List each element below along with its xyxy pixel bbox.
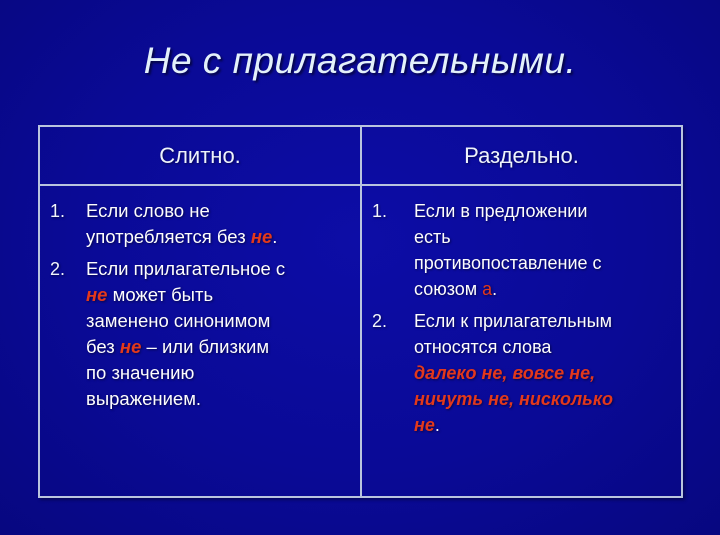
table-header-razdelno: Раздельно. <box>362 127 681 184</box>
text-fragment: противопоставление с <box>414 253 602 273</box>
list-item-text: Если прилагательное сне может бытьзамене… <box>86 256 352 412</box>
table-header-slitno: Слитно. <box>40 127 362 184</box>
text-fragment: Если в предложении <box>414 201 587 221</box>
highlight-phrase: далеко не, вовсе не, <box>414 363 595 383</box>
text-fragment: по значению <box>86 362 194 383</box>
table-body-row: 1. Если слово неупотребляется без не. 2.… <box>40 186 681 496</box>
list-item-text: Если в предложенииестьпротивопоставление… <box>414 198 673 302</box>
text-fragment: употребляется без <box>86 226 251 247</box>
razdelno-rule-list: 1. Если в предложенииестьпротивопоставле… <box>362 186 681 438</box>
list-item-number: 1. <box>372 198 414 224</box>
list-item: 1. Если в предложенииестьпротивопоставле… <box>372 198 673 302</box>
table-cell-slitno: 1. Если слово неупотребляется без не. 2.… <box>40 186 362 496</box>
text-fragment: есть <box>414 227 451 247</box>
text-fragment: Если прилагательное с <box>86 258 285 279</box>
highlight-soyuz-a: а <box>482 279 492 299</box>
text-fragment: Если слово не <box>86 200 210 221</box>
highlight-phrase: не <box>414 415 435 435</box>
highlight-phrase: ничуть не, нисколько <box>414 389 613 409</box>
text-fragment: . <box>492 279 497 299</box>
text-fragment: Если к прилагательным <box>414 311 612 331</box>
slide-canvas: Не с прилагательными. Слитно. Раздельно.… <box>0 0 720 535</box>
list-item: 2. Если прилагательное сне может бытьзам… <box>50 256 352 412</box>
text-fragment: – или близким <box>141 336 269 357</box>
list-item-number: 1. <box>50 198 86 224</box>
highlight-ne: не <box>120 336 141 357</box>
highlight-ne: не <box>251 226 272 247</box>
table-cell-razdelno: 1. Если в предложенииестьпротивопоставле… <box>362 186 681 496</box>
table-header-row: Слитно. Раздельно. <box>40 127 681 186</box>
list-item-number: 2. <box>372 308 414 334</box>
list-item-text: Если слово неупотребляется без не. <box>86 198 352 250</box>
list-item: 1. Если слово неупотребляется без не. <box>50 198 352 250</box>
list-item-number: 2. <box>50 256 86 282</box>
text-fragment: . <box>435 415 440 435</box>
text-fragment: без <box>86 336 120 357</box>
text-fragment: . <box>272 226 277 247</box>
text-fragment: может быть <box>107 284 213 305</box>
page-title: Не с прилагательными. <box>0 40 720 82</box>
text-fragment: выражением. <box>86 388 201 409</box>
rules-table: Слитно. Раздельно. 1. Если слово неупотр… <box>38 125 683 498</box>
text-fragment: относятся слова <box>414 337 551 357</box>
text-fragment: союзом <box>414 279 482 299</box>
text-fragment: заменено синонимом <box>86 310 270 331</box>
highlight-ne: не <box>86 284 107 305</box>
slitno-rule-list: 1. Если слово неупотребляется без не. 2.… <box>40 186 360 412</box>
list-item: 2. Если к прилагательнымотносятся словад… <box>372 308 673 438</box>
list-item-text: Если к прилагательнымотносятся словадале… <box>414 308 673 438</box>
